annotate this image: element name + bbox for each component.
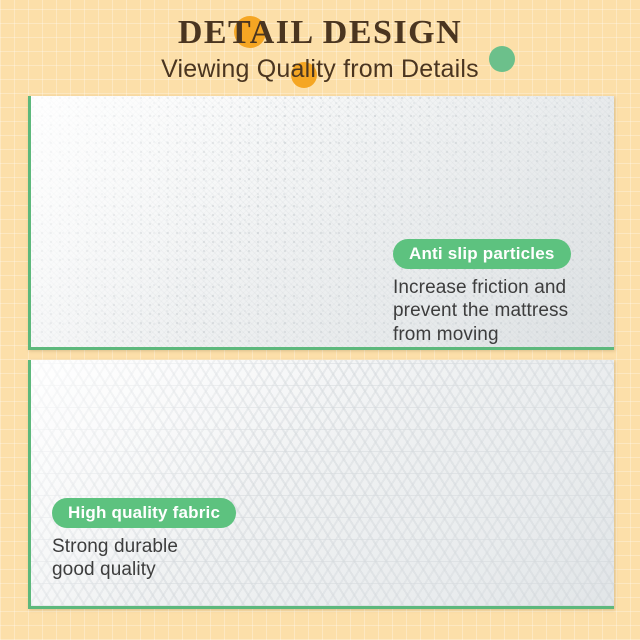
anti-slip-description: Increase friction and prevent the mattre… [393, 276, 571, 346]
anti-slip-badge: Anti slip particles [393, 239, 571, 269]
page-title: DETAIL DESIGN [0, 14, 640, 51]
callout-high-quality-fabric: High quality fabric Strong durable good … [52, 498, 236, 582]
page-subtitle: Viewing Quality from Details [0, 54, 640, 84]
header: DETAIL DESIGN Viewing Quality from Detai… [0, 0, 640, 92]
poster-root: DETAIL DESIGN Viewing Quality from Detai… [0, 0, 640, 640]
high-quality-fabric-description: Strong durable good quality [52, 535, 236, 581]
high-quality-fabric-badge: High quality fabric [52, 498, 236, 528]
callout-anti-slip: Anti slip particles Increase friction an… [393, 239, 571, 346]
